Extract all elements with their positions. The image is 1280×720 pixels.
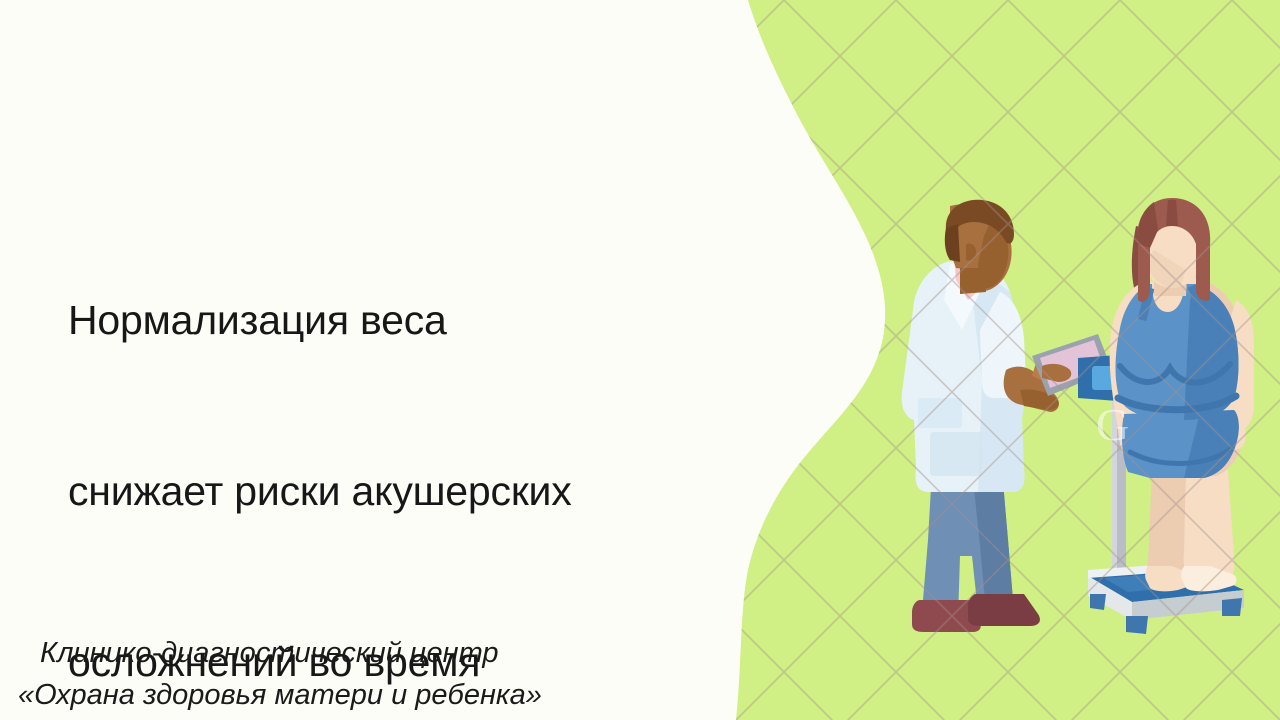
doctor-coat-hip-pocket (930, 432, 982, 476)
doctor-hair-side (945, 224, 960, 262)
doctor-shoe-front (968, 594, 1040, 626)
body-line-2: снижает риски акушерских (68, 463, 708, 520)
footer-organisation-name: Клинико-диагностический центр «Охрана зд… (18, 632, 638, 716)
patient-hair-part (1166, 200, 1178, 226)
scale-foot-right (1222, 598, 1242, 616)
doctor-figure (902, 200, 1112, 632)
body-line-1: Нормализация веса (68, 292, 708, 349)
footer-line-2: «Охрана здоровья матери и ребенка» (18, 674, 638, 716)
patient-figure (1110, 198, 1254, 591)
footer-line-1: Клинико-диагностический центр (18, 632, 638, 674)
scale-foot-left (1090, 594, 1106, 610)
patient-leg-front (1184, 470, 1235, 582)
doctor-coat-pocket (918, 398, 962, 428)
slide: G Нормализация веса снижает риски акушер… (0, 0, 1280, 720)
scale-foot-front (1126, 616, 1148, 634)
doctor-neck (960, 268, 986, 294)
